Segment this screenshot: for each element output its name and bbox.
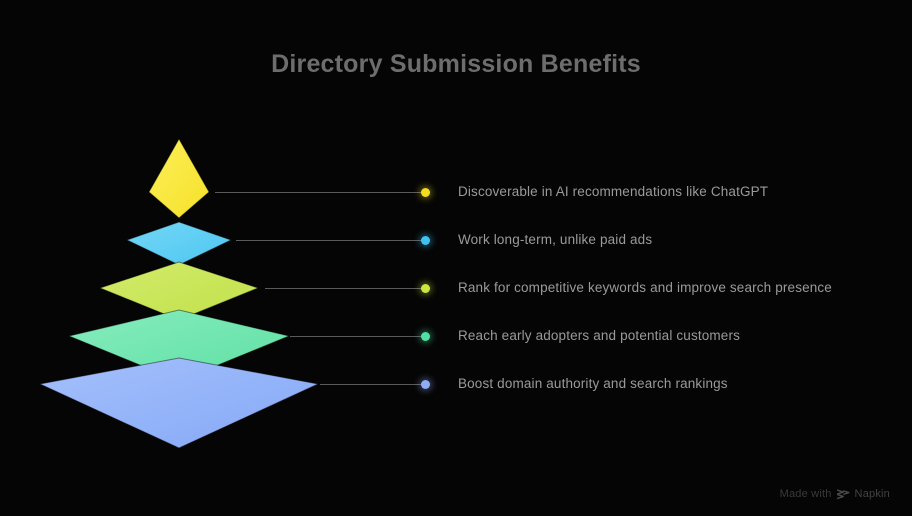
napkin-chevron-logo-icon (837, 489, 850, 500)
legend-dot-2[interactable] (414, 229, 436, 251)
legend-dot-3[interactable] (414, 277, 436, 299)
legend-label-2[interactable]: Work long-term, unlike paid ads (458, 232, 652, 247)
legend-dot-marker (421, 332, 430, 341)
page-title: Directory Submission Benefits (0, 50, 912, 79)
legend-dot-5[interactable] (414, 373, 436, 395)
legend-label-4[interactable]: Reach early adopters and potential custo… (458, 328, 740, 343)
pyramid-level-5[interactable] (40, 358, 318, 448)
legend-label-5[interactable]: Boost domain authority and search rankin… (458, 376, 728, 391)
leader-line-5 (320, 384, 421, 385)
footer-made-with-label: Made with (780, 488, 832, 500)
legend-dot-marker (421, 236, 430, 245)
leader-line-4 (290, 336, 421, 337)
legend-dot-marker (421, 284, 430, 293)
footer-attribution: Made with Napkin (780, 488, 890, 500)
legend-label-1[interactable]: Discoverable in AI recommendations like … (458, 184, 768, 199)
legend-label-3[interactable]: Rank for competitive keywords and improv… (458, 280, 832, 295)
leader-line-1 (215, 192, 421, 193)
footer-brand-label: Napkin (855, 488, 890, 500)
pyramid-level-2[interactable] (127, 222, 231, 265)
legend-dot-4[interactable] (414, 325, 436, 347)
legend-dot-marker (421, 188, 430, 197)
leader-line-2 (236, 240, 421, 241)
infographic-canvas: Directory Submission Benefits Discoverab… (0, 0, 912, 516)
legend-dot-1[interactable] (414, 181, 436, 203)
pyramid-level-3[interactable] (100, 262, 258, 320)
pyramid-level-4[interactable] (69, 310, 289, 381)
pyramid-level-1[interactable] (149, 139, 209, 218)
leader-line-3 (265, 288, 421, 289)
legend-dot-marker (421, 380, 430, 389)
